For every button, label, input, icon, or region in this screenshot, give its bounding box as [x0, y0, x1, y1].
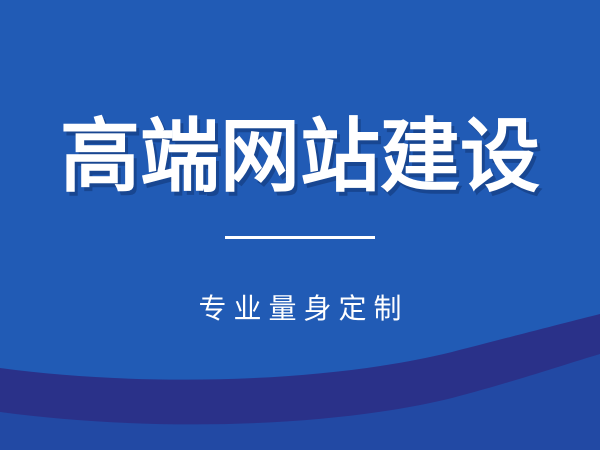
divider-container: [0, 236, 600, 239]
divider-rule: [225, 236, 375, 239]
banner-content: 高端网站建设 专业量身定制: [0, 0, 600, 450]
banner-headline: 高端网站建设: [0, 112, 600, 202]
promo-banner: 高端网站建设 专业量身定制: [0, 0, 600, 450]
banner-subtitle: 专业量身定制: [0, 292, 600, 326]
